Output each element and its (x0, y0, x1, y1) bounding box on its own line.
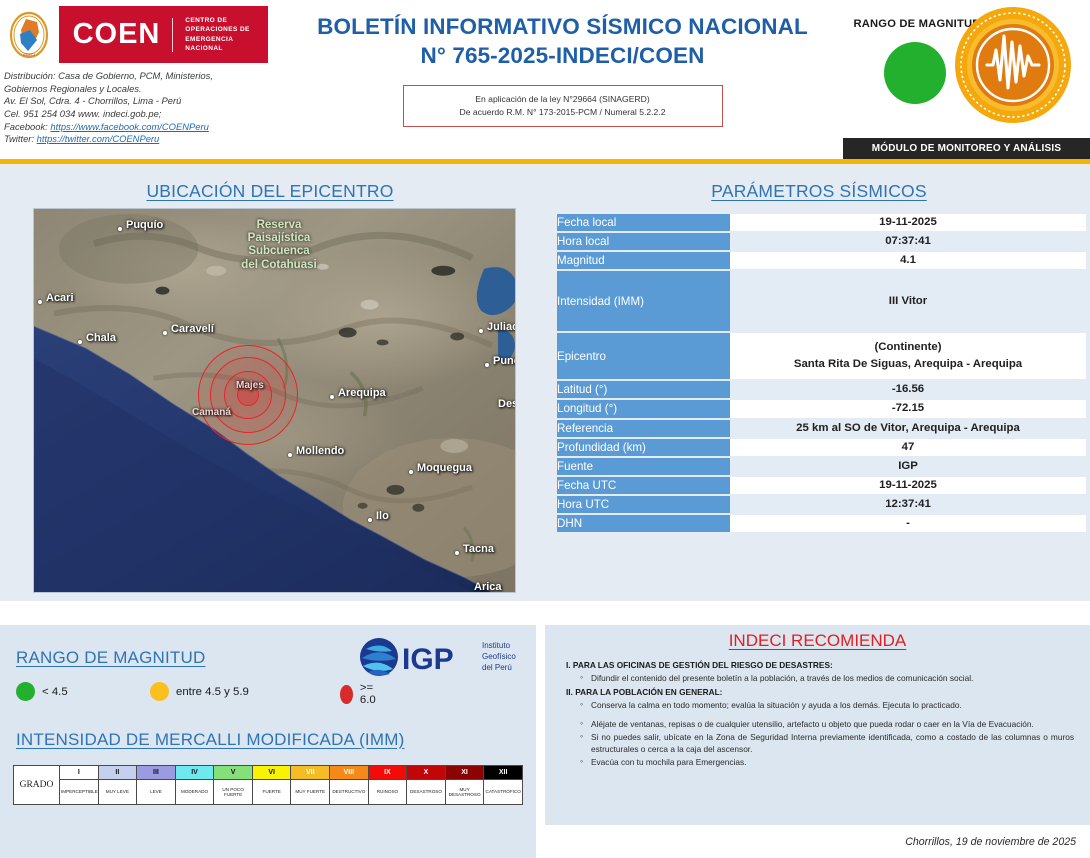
table-row: Hora UTC 12:37:41 (557, 495, 1086, 514)
coen-full-name-line-1: CENTRO DE (185, 16, 268, 25)
param-value-fuente: IGP (730, 457, 1086, 476)
param-value-hora-utc: 12:37:41 (730, 495, 1086, 514)
mercalli-desc-row: IMPERCEPTIBLE MUY LEVE LEVE MODERADO UN … (14, 780, 523, 805)
brand-divider (172, 18, 173, 52)
legend-label-low: < 4.5 (42, 686, 68, 698)
distribution-line-1: Distribución: Casa de Gobierno, PCM, Min… (4, 70, 304, 83)
table-row: Fecha local 19-11-2025 (557, 214, 1086, 232)
mercalli-scale-title: INTENSIDAD DE MERCALLI MODIFICADA (IMM) (16, 730, 404, 750)
map-dot-puno (485, 363, 489, 367)
mercalli-roman-i: I (60, 766, 99, 780)
mercalli-desc-iii: LEVE (137, 780, 176, 805)
param-label-longitud: Longitud (°) (557, 399, 730, 418)
table-row: Profundidad (km) 47 (557, 438, 1086, 457)
param-label-intensidad: Intensidad (IMM) (557, 270, 730, 332)
legend-label-high: >= 6.0 (360, 682, 382, 706)
facebook-row: Facebook: https://www.facebook.com/COENP… (4, 121, 304, 134)
distribution-info: Distribución: Casa de Gobierno, PCM, Min… (4, 70, 304, 146)
param-label-dhn: DHN (557, 514, 730, 533)
map-dot-juliaca (479, 329, 483, 333)
coen-wordmark: COEN (73, 18, 161, 51)
map-reserve-line-1: Reserva (194, 219, 364, 232)
table-row: Hora local 07:37:41 (557, 232, 1086, 251)
map-reserve-label: Reserva Paisajística Subcuenca del Cotah… (194, 219, 364, 272)
param-value-epicentro: (Continente) Santa Rita De Siguas, Arequ… (730, 332, 1086, 380)
svg-text:IGP: IGP (402, 643, 454, 676)
mercalli-roman-xi: XI (445, 766, 484, 780)
mercalli-desc-xii: CATASTRÓFICO (484, 780, 523, 805)
mercalli-desc-viii: DESTRUCTIVO (330, 780, 369, 805)
svg-text:INDECI: INDECI (24, 53, 36, 57)
igp-logo-icon: IGP Instituto Geofísico del Perú (358, 635, 530, 679)
table-row: DHN - (557, 514, 1086, 533)
param-value-fecha-utc: 19-11-2025 (730, 476, 1086, 495)
bulletin-title-line-1: BOLETÍN INFORMATIVO SÍSMICO NACIONAL (290, 12, 835, 41)
map-dot-ilo (368, 518, 372, 522)
bulletin-title-block: BOLETÍN INFORMATIVO SÍSMICO NACIONAL N° … (290, 12, 835, 127)
recommendation-group-heading-1: I. PARA LAS OFICINAS DE GESTIÓN DEL RIES… (566, 660, 1074, 670)
list-item: Difundir el contenido del presente bolet… (580, 672, 1074, 684)
mercalli-desc-xi: MUY DESASTROSO (445, 780, 484, 805)
param-value-dhn: - (730, 514, 1086, 533)
magnitude-legend-row: < 4.5 entre 4.5 y 5.9 >= 6.0 (16, 682, 376, 704)
list-item: Aléjate de ventanas, repisas o de cualqu… (580, 718, 1074, 730)
mercalli-roman-ii: II (98, 766, 137, 780)
footer-date-note: Chorrillos, 19 de noviembre de 2025 (905, 836, 1076, 848)
param-label-referencia: Referencia (557, 419, 730, 438)
mercalli-grade-header: GRADO (14, 766, 60, 805)
legend-dot-green-icon (16, 682, 35, 701)
param-label-epicentro: Epicentro (557, 332, 730, 380)
svg-text:Geofísico: Geofísico (482, 652, 516, 661)
mercalli-roman-viii: VIII (330, 766, 369, 780)
table-row: Intensidad (IMM) III Vitor (557, 270, 1086, 332)
twitter-row: Twitter: https://twitter.com/COENPeru (4, 133, 304, 146)
list-item: Evacúa con tu mochila para Emergencias. (580, 756, 1074, 768)
recommendation-list-2: Conserva la calma en todo momento; evalú… (580, 699, 1074, 768)
mercalli-roman-x: X (407, 766, 446, 780)
seismic-bulletin-page: INDECI COEN CENTRO DE OPERACIONES DE EME… (0, 0, 1090, 858)
twitter-link[interactable]: https://twitter.com/COENPeru (37, 133, 160, 144)
param-value-hora-local: 07:37:41 (730, 232, 1086, 251)
mercalli-desc-iv: MODERADO (175, 780, 214, 805)
param-label-fecha-local: Fecha local (557, 214, 730, 232)
distribution-line-3: Av. El Sol, Cdra. 4 - Chorrillos, Lima -… (4, 95, 304, 108)
list-item: Si no puedes salir, ubícate en la Zona d… (580, 731, 1074, 755)
mercalli-scale-table: GRADO I II III IV V VI VII VIII IX X XI … (13, 765, 523, 805)
magnitude-range-title: RANGO DE MAGNITUD (16, 648, 205, 668)
mercalli-roman-xii: XII (484, 766, 523, 780)
legal-line-1: En aplicación de la ley N°29664 (SINAGER… (408, 93, 718, 106)
mercalli-desc-vi: FUERTE (252, 780, 291, 805)
svg-text:del Perú: del Perú (482, 663, 512, 672)
svg-text:Instituto: Instituto (482, 641, 511, 650)
coen-full-name-line-2: OPERACIONES DE (185, 25, 268, 34)
table-row: Epicentro (Continente) Santa Rita De Sig… (557, 332, 1086, 380)
map-reserve-line-2: Paisajística (194, 232, 364, 245)
mercalli-roman-iii: III (137, 766, 176, 780)
map-dot-moquegua (409, 470, 413, 474)
mercalli-desc-x: DESASTROSO (407, 780, 446, 805)
epicenter-map[interactable]: Reserva Paisajística Subcuenca del Cotah… (33, 208, 516, 593)
coen-full-name: CENTRO DE OPERACIONES DE EMERGENCIA NACI… (185, 16, 268, 54)
magnitude-indicator-circle (884, 42, 946, 104)
peru-shield-icon: INDECI (6, 10, 52, 60)
table-row: Fecha UTC 19-11-2025 (557, 476, 1086, 495)
list-item: Conserva la calma en todo momento; evalú… (580, 699, 1074, 711)
mercalli-desc-v: UN POCO FUERTE (214, 780, 253, 805)
mercalli-roman-v: V (214, 766, 253, 780)
param-value-profundidad: 47 (730, 438, 1086, 457)
map-dot-tacna (455, 551, 459, 555)
coen-full-name-line-3: EMERGENCIA NACIONAL (185, 35, 268, 54)
distribution-line-2: Gobiernos Regionales y Locales. (4, 83, 304, 96)
param-label-magnitud: Magnitud (557, 251, 730, 270)
recommendations-body: I. PARA LAS OFICINAS DE GESTIÓN DEL RIES… (566, 658, 1074, 771)
seismic-parameters-table: Fecha local 19-11-2025 Hora local 07:37:… (557, 214, 1086, 534)
mercalli-roman-iv: IV (175, 766, 214, 780)
param-label-latitud: Latitud (°) (557, 380, 730, 399)
map-dot-chala (78, 340, 82, 344)
peru-shield-emblem-box: INDECI (0, 6, 59, 63)
mercalli-roman-row: GRADO I II III IV V VI VII VIII IX X XI … (14, 766, 523, 780)
distribution-line-4: Cel. 951 254 034 www. indeci.gob.pe; (4, 108, 304, 121)
param-value-referencia: 25 km al SO de Vitor, Arequipa - Arequip… (730, 419, 1086, 438)
legend-label-mid: entre 4.5 y 5.9 (176, 686, 249, 698)
facebook-label: Facebook: (4, 121, 50, 132)
param-value-epicentro-line-1: (Continente) (730, 339, 1086, 356)
map-dot-mollendo (288, 453, 292, 457)
mercalli-desc-vii: MUY FUERTE (291, 780, 330, 805)
legal-line-2: De acuerdo R.M. N° 173-2015-PCM / Numera… (408, 106, 718, 119)
map-dot-acari (38, 300, 42, 304)
legend-item-low: < 4.5 (16, 682, 68, 701)
legend-dot-yellow-icon (150, 682, 169, 701)
param-label-hora-utc: Hora UTC (557, 495, 730, 514)
coen-brand-band: INDECI COEN CENTRO DE OPERACIONES DE EME… (0, 6, 268, 63)
seismograph-seal-icon (954, 6, 1072, 124)
module-bar: MÓDULO DE MONITOREO Y ANÁLISIS (843, 138, 1090, 159)
param-value-fecha-local: 19-11-2025 (730, 214, 1086, 232)
recommendations-title: INDECI RECOMIENDA (545, 631, 1090, 651)
twitter-label: Twitter: (4, 133, 37, 144)
legend-dot-red-icon (340, 685, 353, 704)
param-value-magnitud: 4.1 (730, 251, 1086, 270)
param-label-fecha-utc: Fecha UTC (557, 476, 730, 495)
table-row: Latitud (°) -16.56 (557, 380, 1086, 399)
recommendation-list-1: Difundir el contenido del presente bolet… (580, 672, 1074, 684)
mercalli-roman-vii: VII (291, 766, 330, 780)
recommendation-group-heading-2: II. PARA LA POBLACIÓN EN GENERAL: (566, 687, 1074, 697)
bulletin-title-line-2: N° 765-2025-INDECI/COEN (290, 41, 835, 70)
legend-item-mid: entre 4.5 y 5.9 (150, 682, 249, 701)
legal-notice-box: En aplicación de la ley N°29664 (SINAGER… (403, 85, 723, 128)
map-reserve-line-4: del Cotahuasi (194, 259, 364, 272)
param-label-profundidad: Profundidad (km) (557, 438, 730, 457)
map-dot-puquio (118, 227, 122, 231)
facebook-link[interactable]: https://www.facebook.com/COENPeru (50, 121, 208, 132)
legend-item-high: >= 6.0 (340, 682, 382, 706)
param-value-epicentro-line-2: Santa Rita De Siguas, Arequipa - Arequip… (730, 356, 1086, 373)
param-value-longitud: -72.15 (730, 399, 1086, 418)
param-value-intensidad: III Vitor (730, 270, 1086, 332)
param-label-hora-local: Hora local (557, 232, 730, 251)
table-row: Longitud (°) -72.15 (557, 399, 1086, 418)
param-value-latitud: -16.56 (730, 380, 1086, 399)
mercalli-desc-ii: MUY LEVE (98, 780, 137, 805)
section-title-epicenter: UBICACIÓN DEL EPICENTRO (0, 181, 540, 202)
map-dot-arequipa (330, 395, 334, 399)
table-row: Fuente IGP (557, 457, 1086, 476)
table-row: Referencia 25 km al SO de Vitor, Arequip… (557, 419, 1086, 438)
section-title-parameters: PARÁMETROS SÍSMICOS (548, 181, 1090, 202)
mercalli-roman-vi: VI (252, 766, 291, 780)
mercalli-roman-ix: IX (368, 766, 407, 780)
map-dot-caraveli (163, 331, 167, 335)
table-row: Magnitud 4.1 (557, 251, 1086, 270)
map-reserve-line-3: Subcuenca (194, 245, 364, 258)
param-label-fuente: Fuente (557, 457, 730, 476)
mercalli-desc-ix: RUINOSO (368, 780, 407, 805)
page-header: INDECI COEN CENTRO DE OPERACIONES DE EME… (0, 0, 1090, 160)
epicenter-marker (237, 384, 259, 406)
mercalli-desc-i: IMPERCEPTIBLE (60, 780, 99, 805)
